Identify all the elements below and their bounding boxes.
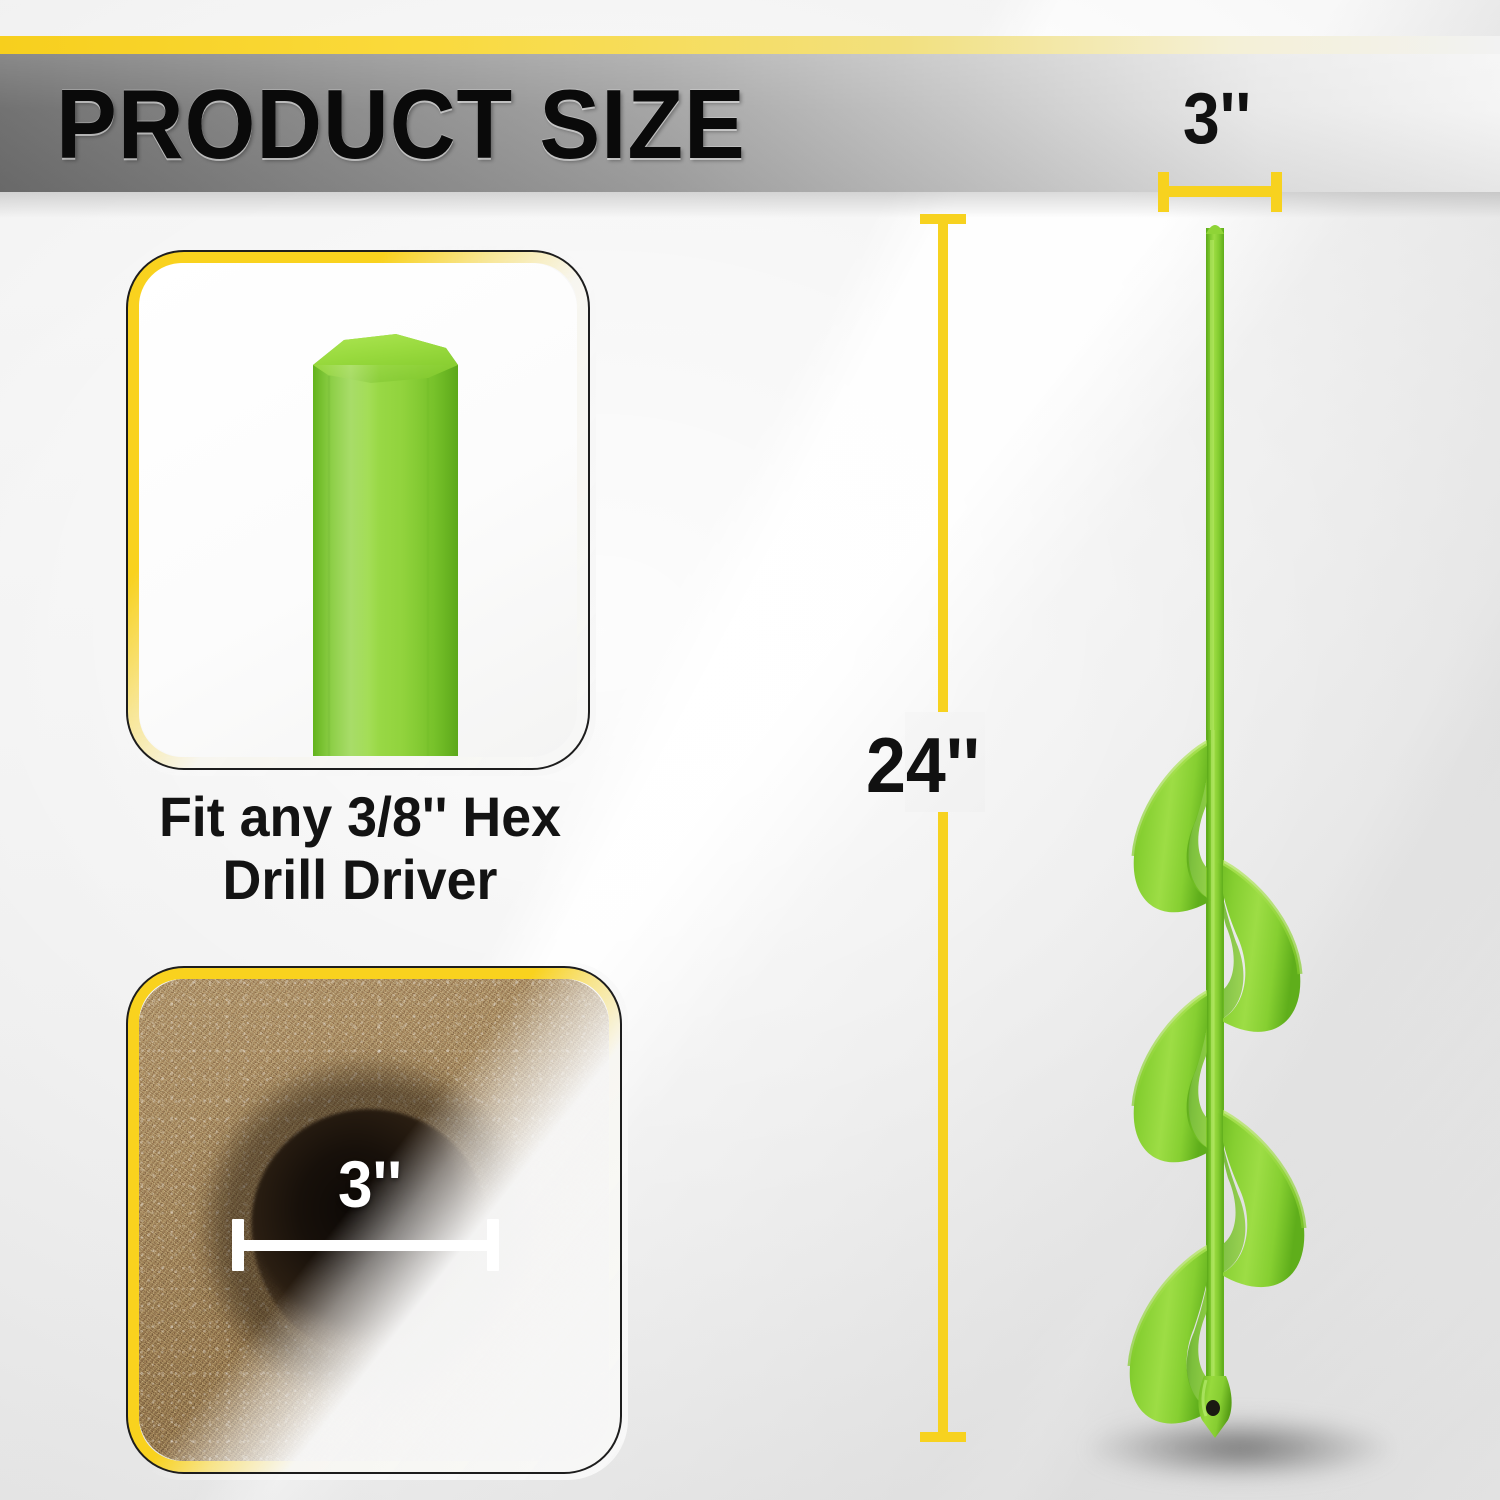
- hex-shank-sheen: [313, 365, 458, 756]
- width-dimension-bar: [1161, 186, 1279, 197]
- page-title: PRODUCT SIZE: [56, 62, 746, 186]
- product-size-infographic: PRODUCT SIZE: [0, 0, 1500, 1500]
- auger-drill-bit: [1060, 200, 1420, 1480]
- hole-measure-label: 3'': [304, 1146, 436, 1222]
- auger-tip-hole: [1206, 1400, 1220, 1416]
- hole-measure-cap-right: [487, 1219, 499, 1271]
- hex-fit-caption: Fit any 3/8'' Hex Drill Driver: [130, 786, 591, 911]
- header-accent-bar: [0, 36, 1500, 54]
- auger-core-highlight: [1211, 730, 1215, 1385]
- auger-tip: [1198, 1376, 1231, 1438]
- caption-line-2: Drill Driver: [130, 849, 591, 912]
- height-dimension-label: 24'': [866, 720, 980, 811]
- height-dimension-line: [938, 220, 948, 1442]
- auger-core-shaft: [1207, 730, 1223, 1390]
- hole-measure-bar: [235, 1240, 495, 1251]
- caption-line-1: Fit any 3/8'' Hex: [130, 786, 591, 849]
- height-dimension-cap-bottom: [920, 1432, 966, 1442]
- width-dimension-label: 3'': [1148, 78, 1286, 160]
- hex-shank-graphic: [128, 252, 588, 768]
